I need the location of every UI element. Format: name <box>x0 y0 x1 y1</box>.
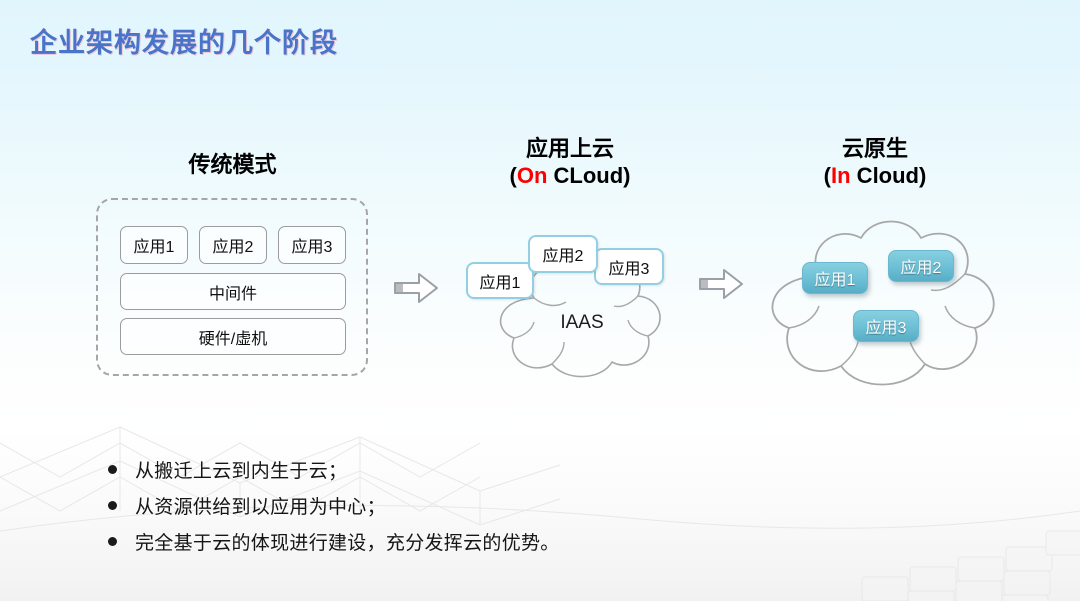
bullet-item: 完全基于云的体现进行建设，充分发挥云的优势。 <box>108 526 808 557</box>
on-cloud-app-card-2[interactable]: 应用2 <box>528 235 598 273</box>
heading-traditional-cn: 传统模式 <box>100 152 365 179</box>
bullet-item: 从资源供给到以应用为中心； <box>108 490 808 521</box>
in-cloud-app-card-2[interactable]: 应用2 <box>888 250 954 282</box>
iaas-cloud-label: IAAS <box>482 312 682 334</box>
heading-in-cloud-paren-open: ( <box>824 163 831 188</box>
heading-on-cloud: 应用上云 (On CLoud) <box>440 136 700 190</box>
on-cloud-app-card-3[interactable]: 应用3 <box>594 248 664 285</box>
bullet-text-2: 从资源供给到以应用为中心； <box>135 492 386 519</box>
heading-on-cloud-rest: CLoud) <box>547 163 630 188</box>
heading-in-cloud-highlight: In <box>831 163 851 188</box>
traditional-app-box-2[interactable]: 应用2 <box>199 226 267 264</box>
arrow-right-icon-2 <box>699 268 743 300</box>
cloud-native-cloud-shape <box>757 214 1012 394</box>
heading-on-cloud-paren-open: ( <box>510 163 517 188</box>
bullet-dot-icon <box>108 501 117 510</box>
bullet-dot-icon <box>108 537 117 546</box>
heading-in-cloud-en: (In Cloud) <box>745 163 1005 190</box>
traditional-middleware-box[interactable]: 中间件 <box>120 273 346 310</box>
traditional-app-box-3[interactable]: 应用3 <box>278 226 346 264</box>
in-cloud-app-card-3[interactable]: 应用3 <box>853 310 919 342</box>
heading-on-cloud-en: (On CLoud) <box>440 163 700 190</box>
traditional-app-box-1[interactable]: 应用1 <box>120 226 188 264</box>
heading-in-cloud-cn: 云原生 <box>745 136 1005 163</box>
heading-traditional: 传统模式 <box>100 152 365 179</box>
heading-on-cloud-highlight: On <box>517 163 548 188</box>
bullet-text-3: 完全基于云的体现进行建设，充分发挥云的优势。 <box>135 528 560 555</box>
page-title: 企业架构发展的几个阶段 <box>30 21 338 60</box>
on-cloud-app-card-1[interactable]: 应用1 <box>466 262 534 299</box>
bullet-item: 从搬迁上云到内生于云； <box>108 454 808 485</box>
arrow-right-icon-1 <box>394 272 438 304</box>
traditional-hardware-box[interactable]: 硬件/虚机 <box>120 318 346 355</box>
heading-in-cloud: 云原生 (In Cloud) <box>745 136 1005 190</box>
bullet-list: 从搬迁上云到内生于云； 从资源供给到以应用为中心； 完全基于云的体现进行建设，充… <box>108 454 808 562</box>
traditional-architecture-panel: 应用1 应用2 应用3 中间件 硬件/虚机 <box>96 198 368 376</box>
heading-on-cloud-cn: 应用上云 <box>440 136 700 163</box>
bullet-dot-icon <box>108 465 117 474</box>
in-cloud-app-card-1[interactable]: 应用1 <box>802 262 868 294</box>
bullet-text-1: 从搬迁上云到内生于云； <box>135 456 347 483</box>
heading-in-cloud-rest: Cloud) <box>851 163 927 188</box>
slide-canvas: 企业架构发展的几个阶段 传统模式 应用1 应用2 应用3 中间件 硬件/虚机 应… <box>0 0 1080 601</box>
